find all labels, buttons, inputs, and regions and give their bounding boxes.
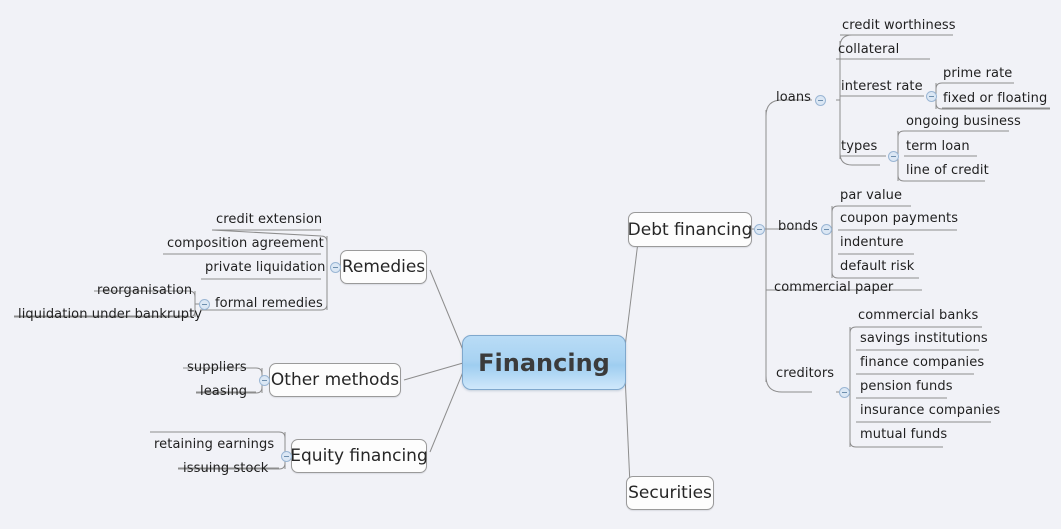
node-term-loan-label: term loan bbox=[906, 139, 970, 154]
node-collateral-label: collateral bbox=[838, 42, 899, 57]
node-types-label: types bbox=[841, 139, 877, 154]
node-ongoing-business-label: ongoing business bbox=[906, 114, 1021, 129]
collapse-toggle-types[interactable] bbox=[888, 151, 899, 162]
branch-debt-financing[interactable]: Debt financing bbox=[628, 212, 752, 247]
node-reorganisation-label: reorganisation bbox=[97, 283, 192, 298]
node-composition-agreement-label: composition agreement bbox=[167, 236, 324, 251]
node-liquidation-under-bankrupty[interactable]: liquidation under bankrupty bbox=[18, 307, 202, 323]
branch-equity-financing[interactable]: Equity financing bbox=[291, 439, 427, 473]
node-prime-rate-label: prime rate bbox=[943, 66, 1012, 81]
node-credit-extension-label: credit extension bbox=[216, 212, 322, 227]
node-loans-label: loans bbox=[776, 90, 811, 105]
node-fixed-or-floating[interactable]: fixed or floating bbox=[943, 91, 1047, 107]
collapse-toggle-other-methods[interactable] bbox=[259, 375, 270, 386]
node-credit-worthiness[interactable]: credit worthiness bbox=[842, 18, 956, 34]
node-coupon-payments-label: coupon payments bbox=[840, 211, 958, 226]
node-commercial-banks-label: commercial banks bbox=[858, 308, 978, 323]
node-indenture[interactable]: indenture bbox=[840, 235, 904, 251]
node-private-liquidation-label: private liquidation bbox=[205, 260, 325, 275]
node-leasing-label: leasing bbox=[200, 384, 247, 399]
node-mutual-funds[interactable]: mutual funds bbox=[860, 427, 947, 443]
node-bonds-label: bonds bbox=[778, 219, 818, 234]
node-formal-remedies-label: formal remedies bbox=[215, 296, 323, 311]
node-line-of-credit[interactable]: line of credit bbox=[906, 163, 989, 179]
node-fixed-or-floating-label: fixed or floating bbox=[943, 91, 1047, 106]
node-creditors-label: creditors bbox=[776, 366, 834, 381]
collapse-toggle-formal-remedies[interactable] bbox=[199, 299, 210, 310]
node-retaining-earnings-label: retaining earnings bbox=[154, 437, 274, 452]
node-commercial-paper-label: commercial paper bbox=[774, 280, 893, 295]
node-pension-funds[interactable]: pension funds bbox=[860, 379, 953, 395]
mindmap-canvas: Financing Debt financing Securities Reme… bbox=[0, 0, 1061, 529]
collapse-toggle-interest-rate[interactable] bbox=[926, 91, 937, 102]
node-suppliers-label: suppliers bbox=[187, 360, 247, 375]
node-private-liquidation[interactable]: private liquidation bbox=[205, 260, 325, 276]
branch-other-methods-label: Other methods bbox=[271, 370, 399, 390]
node-collateral[interactable]: collateral bbox=[838, 42, 899, 58]
collapse-toggle-equity-financing[interactable] bbox=[281, 451, 292, 462]
branch-remedies[interactable]: Remedies bbox=[340, 250, 427, 284]
node-savings-institutions-label: savings institutions bbox=[860, 331, 988, 346]
root-node-label: Financing bbox=[478, 349, 610, 377]
collapse-toggle-bonds[interactable] bbox=[821, 224, 832, 235]
collapse-toggle-loans[interactable] bbox=[815, 95, 826, 106]
node-retaining-earnings[interactable]: retaining earnings bbox=[154, 437, 274, 453]
node-finance-companies[interactable]: finance companies bbox=[860, 355, 984, 371]
node-line-of-credit-label: line of credit bbox=[906, 163, 989, 178]
node-issuing-stock-label: issuing stock bbox=[183, 461, 268, 476]
node-coupon-payments[interactable]: coupon payments bbox=[840, 211, 958, 227]
branch-securities[interactable]: Securities bbox=[626, 476, 714, 510]
node-commercial-paper[interactable]: commercial paper bbox=[774, 280, 893, 296]
node-insurance-companies-label: insurance companies bbox=[860, 403, 1000, 418]
collapse-toggle-debt-financing[interactable] bbox=[754, 224, 765, 235]
node-bonds[interactable]: bonds bbox=[778, 219, 818, 235]
node-default-risk[interactable]: default risk bbox=[840, 259, 914, 275]
node-credit-extension[interactable]: credit extension bbox=[216, 212, 322, 228]
node-par-value[interactable]: par value bbox=[840, 188, 902, 204]
node-types[interactable]: types bbox=[841, 139, 877, 155]
branch-remedies-label: Remedies bbox=[342, 257, 425, 277]
node-mutual-funds-label: mutual funds bbox=[860, 427, 947, 442]
node-credit-worthiness-label: credit worthiness bbox=[842, 18, 956, 33]
node-pension-funds-label: pension funds bbox=[860, 379, 953, 394]
node-composition-agreement[interactable]: composition agreement bbox=[167, 236, 324, 252]
node-commercial-banks[interactable]: commercial banks bbox=[858, 308, 978, 324]
node-ongoing-business[interactable]: ongoing business bbox=[906, 114, 1021, 130]
node-leasing[interactable]: leasing bbox=[200, 384, 247, 400]
branch-debt-financing-label: Debt financing bbox=[628, 220, 753, 240]
root-node-financing[interactable]: Financing bbox=[462, 335, 626, 390]
node-reorganisation[interactable]: reorganisation bbox=[97, 283, 192, 299]
node-loans[interactable]: loans bbox=[776, 90, 811, 106]
node-creditors[interactable]: creditors bbox=[776, 366, 834, 382]
node-interest-rate[interactable]: interest rate bbox=[841, 79, 923, 95]
node-term-loan[interactable]: term loan bbox=[906, 139, 970, 155]
node-savings-institutions[interactable]: savings institutions bbox=[860, 331, 988, 347]
node-interest-rate-label: interest rate bbox=[841, 79, 923, 94]
node-finance-companies-label: finance companies bbox=[860, 355, 984, 370]
node-indenture-label: indenture bbox=[840, 235, 904, 250]
node-default-risk-label: default risk bbox=[840, 259, 914, 274]
node-suppliers[interactable]: suppliers bbox=[187, 360, 247, 376]
node-issuing-stock[interactable]: issuing stock bbox=[183, 461, 268, 477]
collapse-toggle-remedies[interactable] bbox=[330, 262, 341, 273]
branch-securities-label: Securities bbox=[628, 483, 712, 503]
collapse-toggle-creditors[interactable] bbox=[839, 387, 850, 398]
node-par-value-label: par value bbox=[840, 188, 902, 203]
branch-equity-financing-label: Equity financing bbox=[290, 446, 427, 466]
node-prime-rate[interactable]: prime rate bbox=[943, 66, 1012, 82]
node-liquidation-under-bankrupty-label: liquidation under bankrupty bbox=[18, 307, 202, 322]
branch-other-methods[interactable]: Other methods bbox=[269, 363, 401, 397]
node-formal-remedies[interactable]: formal remedies bbox=[215, 296, 323, 312]
node-insurance-companies[interactable]: insurance companies bbox=[860, 403, 1000, 419]
